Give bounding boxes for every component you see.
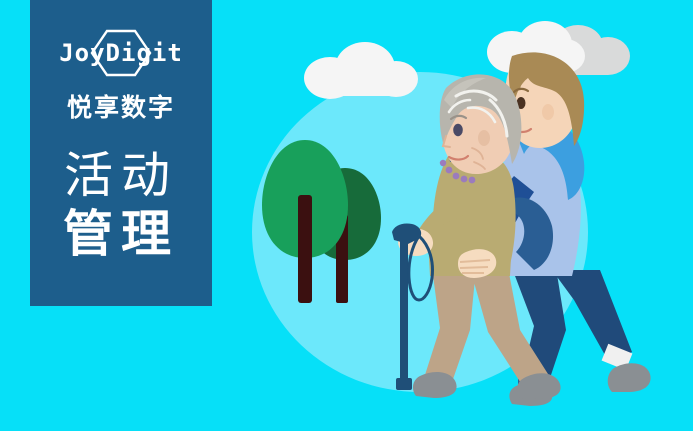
brand-panel: JoyDigit 悦享数字 活动 管理 [30, 0, 212, 306]
title-line-2: 管理 [63, 207, 179, 261]
poster-canvas: JoyDigit 悦享数字 活动 管理 [0, 0, 693, 431]
logo-lockup: JoyDigit [46, 30, 196, 76]
page-title: 活动 管理 [63, 150, 179, 261]
title-line-1: 活动 [63, 150, 179, 203]
logo-wordmark: JoyDigit [46, 30, 196, 76]
brand-chinese-name: 悦享数字 [67, 88, 175, 124]
